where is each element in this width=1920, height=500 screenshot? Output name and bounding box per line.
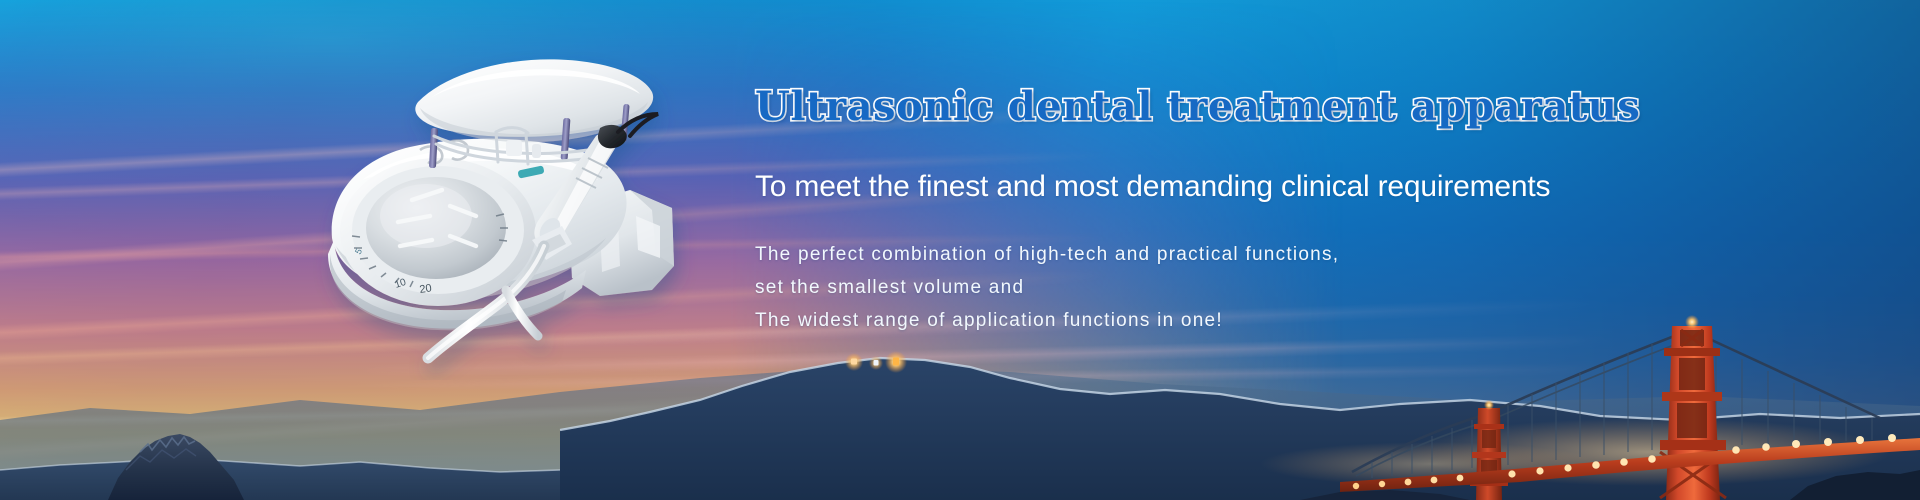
subheadline: To meet the finest and most demanding cl… xyxy=(755,170,1755,204)
banner-copy: Ultrasonic dental treatment apparatus To… xyxy=(755,84,1755,337)
dial-label-20: 20 xyxy=(419,282,433,296)
device-control-dial[interactable]: 5 10 20 xyxy=(340,158,536,306)
promo-banner: 5 10 20 xyxy=(0,0,1920,500)
body-copy-line-1: The perfect combination of high-tech and… xyxy=(755,238,1755,271)
body-copy-list: The perfect combination of high-tech and… xyxy=(755,238,1755,337)
body-copy-line-2: set the smallest volume and xyxy=(755,271,1755,304)
ridge-lights xyxy=(845,351,907,373)
page-title: Ultrasonic dental treatment apparatus xyxy=(755,84,1755,130)
body-copy-line-3: The widest range of application function… xyxy=(755,304,1755,337)
ultrasonic-dental-scaler-unit: 5 10 20 xyxy=(300,40,720,380)
